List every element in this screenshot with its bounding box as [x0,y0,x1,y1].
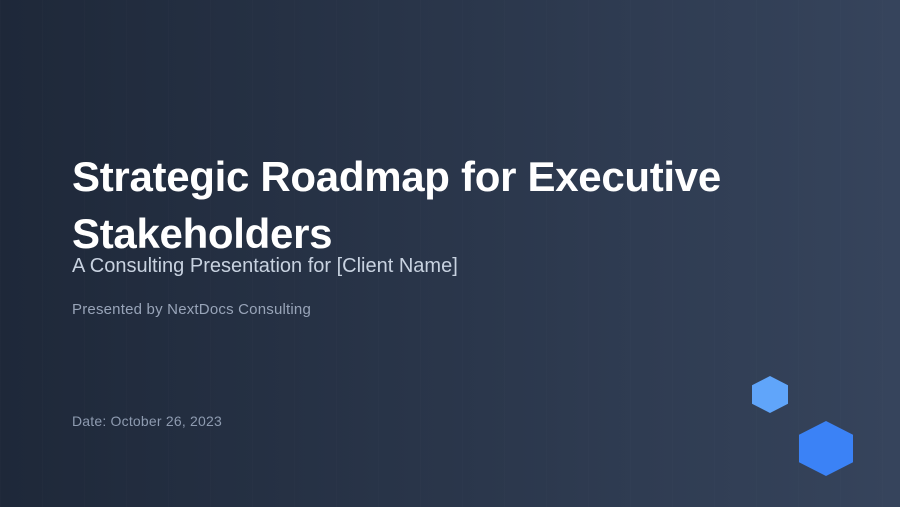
slide-subtitle: A Consulting Presentation for [Client Na… [72,253,458,279]
page-title: Strategic Roadmap for Executive Stakehol… [72,148,812,262]
title-block: Strategic Roadmap for Executive Stakehol… [72,0,832,507]
presentation-date: Date: October 26, 2023 [72,412,222,431]
presentation-title-slide: Strategic Roadmap for Executive Stakehol… [0,0,900,507]
presenter-credit: Presented by NextDocs Consulting [72,300,311,320]
